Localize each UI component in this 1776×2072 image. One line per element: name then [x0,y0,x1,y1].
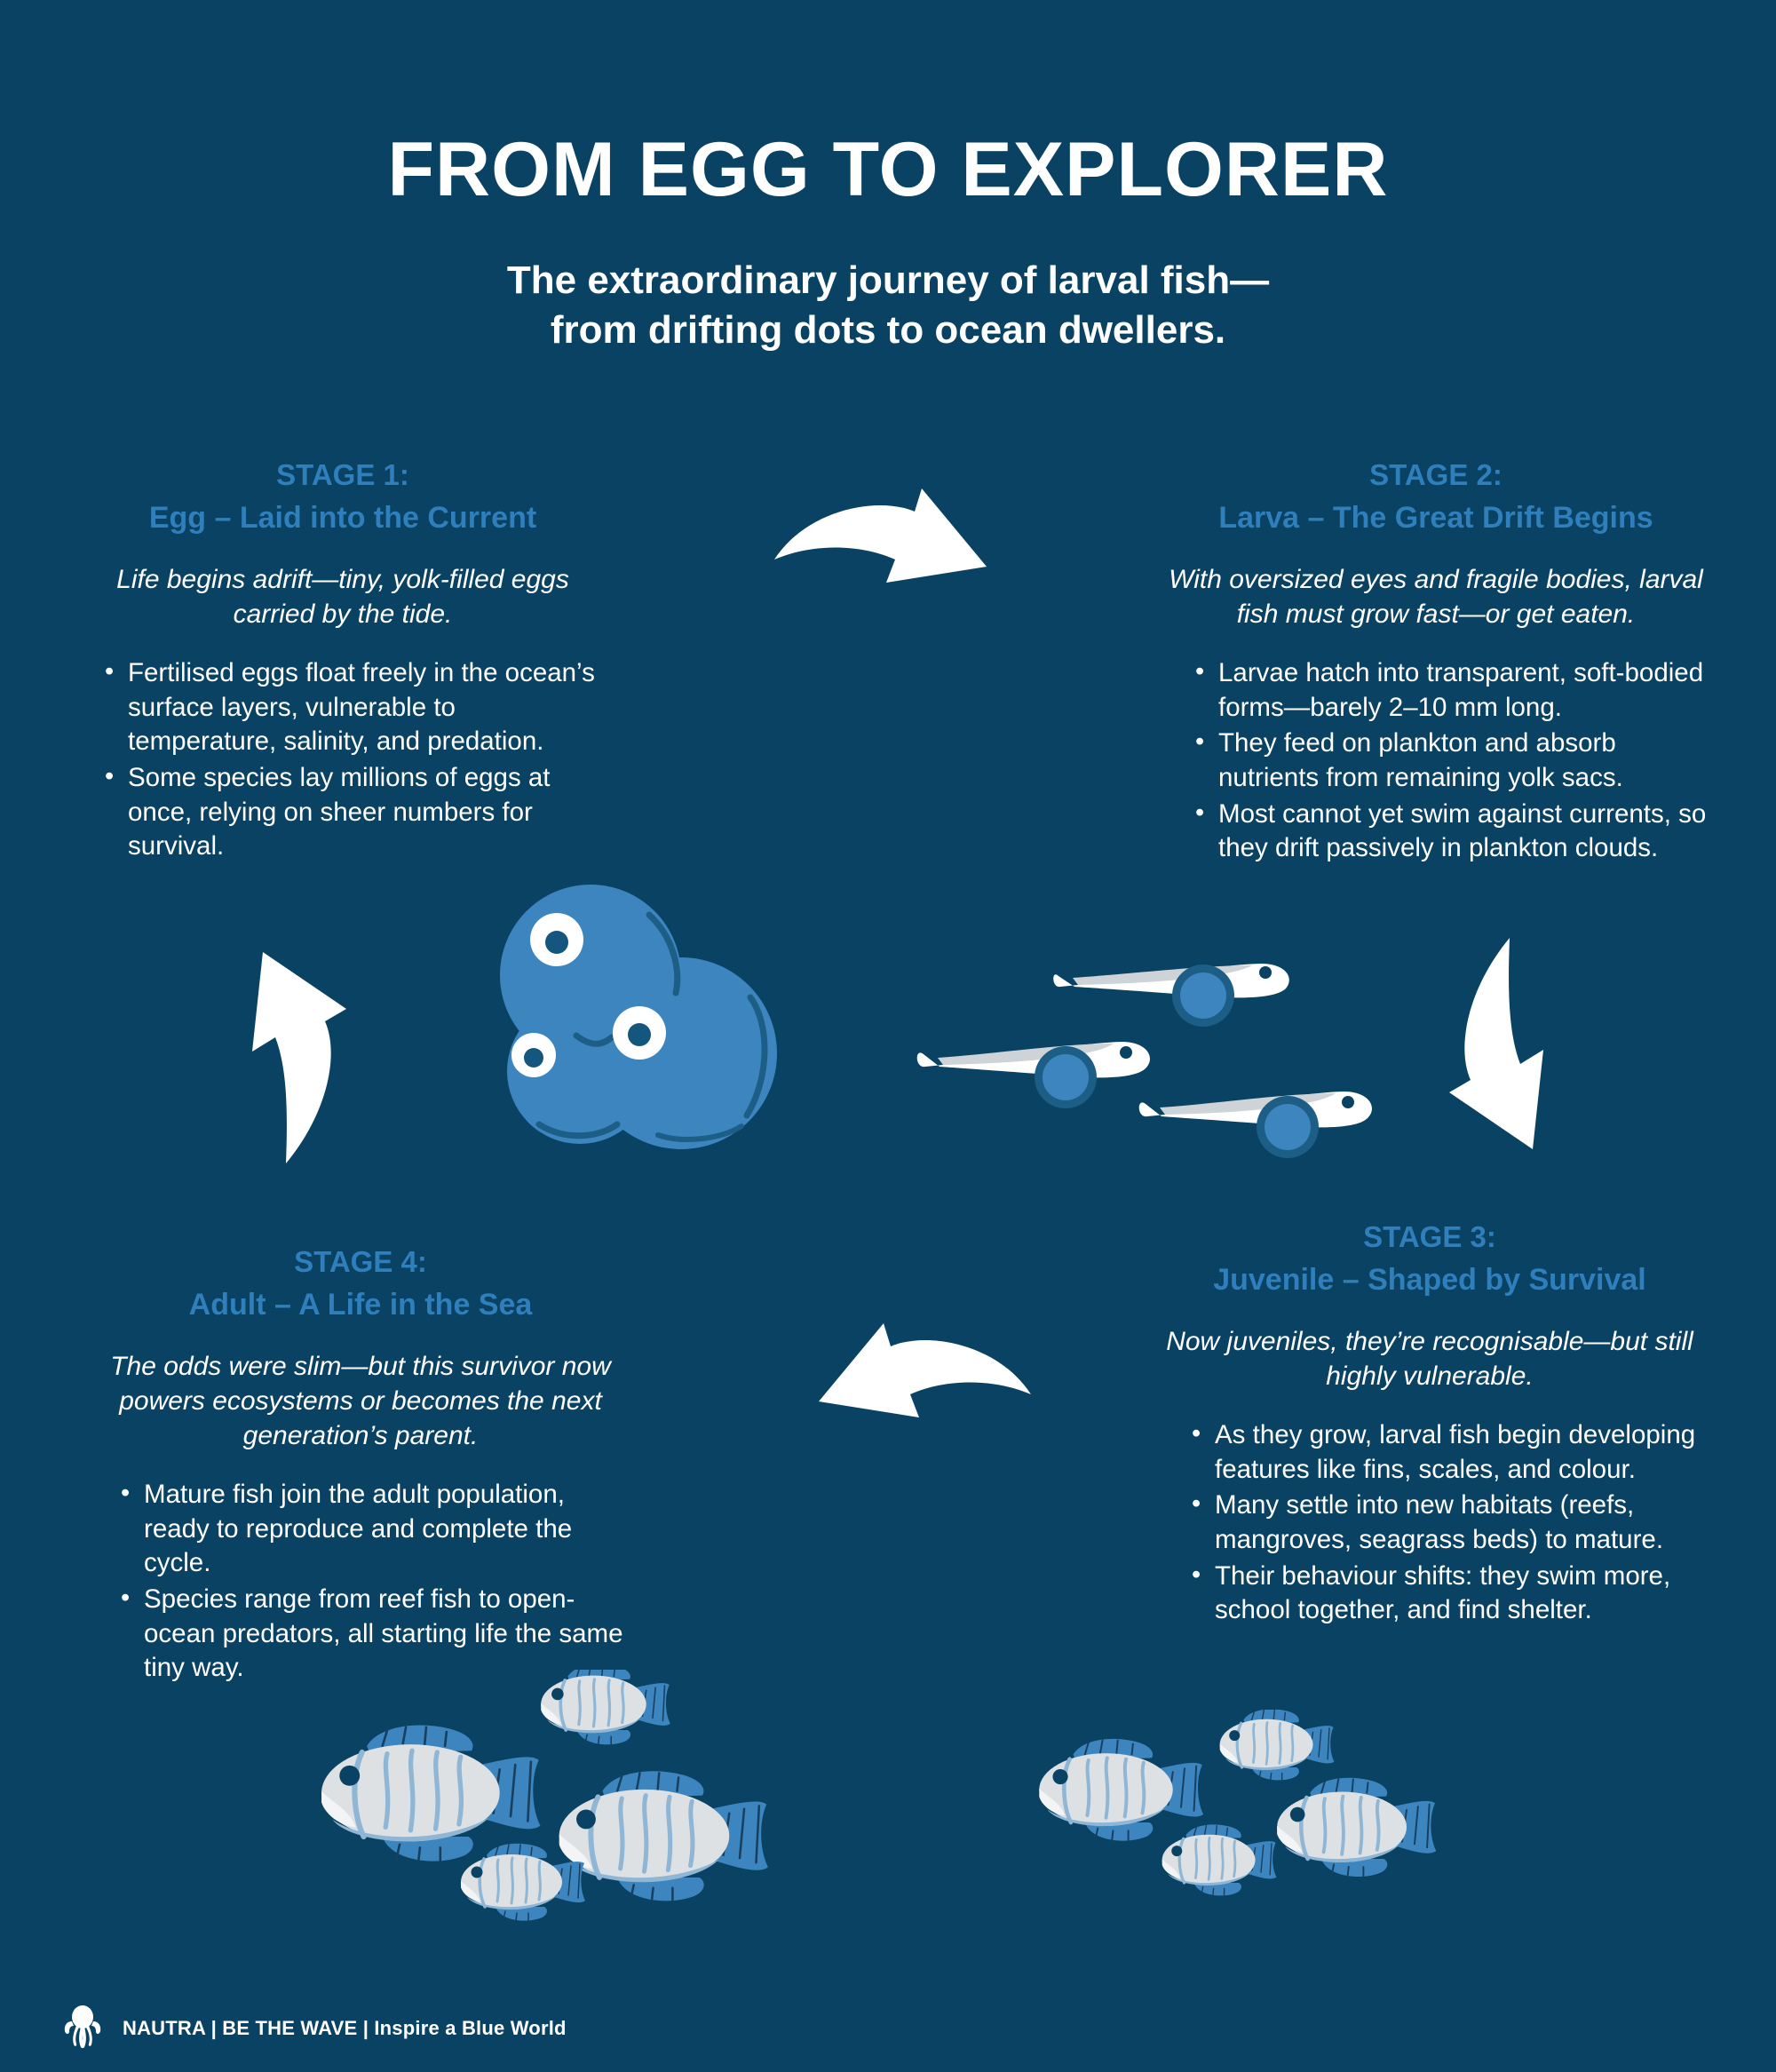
stage-4-heading-line-1: STAGE 4: [294,1245,427,1278]
adult-fish-school-left [315,1670,919,1985]
list-item: Their behaviour shifts: they swim more, … [1188,1560,1705,1628]
stage-2-heading-line-1: STAGE 2: [1369,458,1502,491]
list-item: Larvae hatch into transparent, soft-bodi… [1192,656,1707,725]
fish [1039,1739,1203,1841]
page-title: FROM EGG TO EXPLORER [0,131,1776,208]
stage-2-tagline: With oversized eyes and fragile bodies, … [1165,562,1707,631]
stage-3-bullet-list: As they grow, larval fish begin developi… [1154,1418,1705,1628]
octopus-icon [59,2002,107,2054]
stage-block-4: STAGE 4: Adult – A Life in the Sea The o… [85,1242,636,1687]
stage-1-heading: STAGE 1: Egg – Laid into the Current [85,455,600,539]
list-item: They feed on plankton and absorb nutrien… [1192,726,1707,795]
stage-4-heading: STAGE 4: Adult – A Life in the Sea [85,1242,636,1326]
larva [1139,1092,1372,1158]
stage-block-1: STAGE 1: Egg – Laid into the Current Lif… [85,455,600,866]
list-item: Mature fish join the adult population, r… [117,1478,636,1581]
arrow-up-icon [233,934,401,1171]
fish [1277,1778,1436,1878]
fish [321,1726,540,1862]
footer: NAUTRA | BE THE WAVE | Inspire a Blue Wo… [59,2002,567,2054]
larva [917,1042,1150,1108]
stage-block-3: STAGE 3: Juvenile – Shaped by Survival N… [1154,1217,1705,1630]
stage-1-heading-line-1: STAGE 1: [276,458,409,491]
stage-1-bullet-list: Fertilised eggs float freely in the ocea… [85,656,600,864]
stage-4-tagline: The odds were slim—but this survivor now… [85,1349,636,1453]
stage-4-bullet-list: Mature fish join the adult population, r… [85,1478,636,1686]
stage-3-heading-line-2: Juvenile – Shaped by Survival [1154,1258,1705,1301]
stage-1-heading-line-2: Egg – Laid into the Current [85,496,600,539]
fish [1162,1824,1277,1895]
egg-cluster-illustration [484,877,777,1166]
header: FROM EGG TO EXPLORER The extraordinary j… [0,0,1776,356]
stage-4-heading-line-2: Adult – A Life in the Sea [85,1283,636,1326]
adult-fish-school-right [1035,1710,1514,1981]
list-item: Many settle into new habitats (reefs, ma… [1188,1489,1705,1557]
stage-3-tagline: Now juveniles, they’re recognisable—but … [1154,1324,1705,1393]
stage-1-tagline: Life begins adrift—tiny, yolk-filled egg… [85,562,600,631]
list-item: Most cannot yet swim against currents, s… [1192,798,1707,866]
stage-2-bullet-list: Larvae hatch into transparent, soft-bodi… [1165,656,1707,866]
larva [1053,964,1289,1027]
arrow-left-icon [813,1313,1035,1455]
stage-3-heading: STAGE 3: Juvenile – Shaped by Survival [1154,1217,1705,1301]
fish [1220,1710,1335,1781]
fish [541,1670,670,1745]
fish [559,1771,768,1901]
arrow-down-left-icon [1394,934,1563,1171]
subtitle-line-1: The extraordinary journey of larval fish… [0,256,1776,306]
stage-2-heading-line-2: Larva – The Great Drift Begins [1165,496,1707,539]
subtitle-line-2: from drifting dots to ocean dwellers. [0,306,1776,355]
page-subtitle: The extraordinary journey of larval fish… [0,256,1776,356]
list-item: As they grow, larval fish begin developi… [1188,1418,1705,1487]
arrow-right-icon [771,478,993,620]
larvae-illustration [906,955,1385,1199]
stage-2-heading: STAGE 2: Larva – The Great Drift Begins [1165,455,1707,539]
footer-brand-text: NAUTRA | BE THE WAVE | Inspire a Blue Wo… [123,2017,567,2040]
list-item: Fertilised eggs float freely in the ocea… [101,656,600,759]
stage-block-2: STAGE 2: Larva – The Great Drift Begins … [1165,455,1707,868]
list-item: Some species lay millions of eggs at onc… [101,761,600,864]
stage-3-heading-line-1: STAGE 3: [1363,1220,1496,1253]
